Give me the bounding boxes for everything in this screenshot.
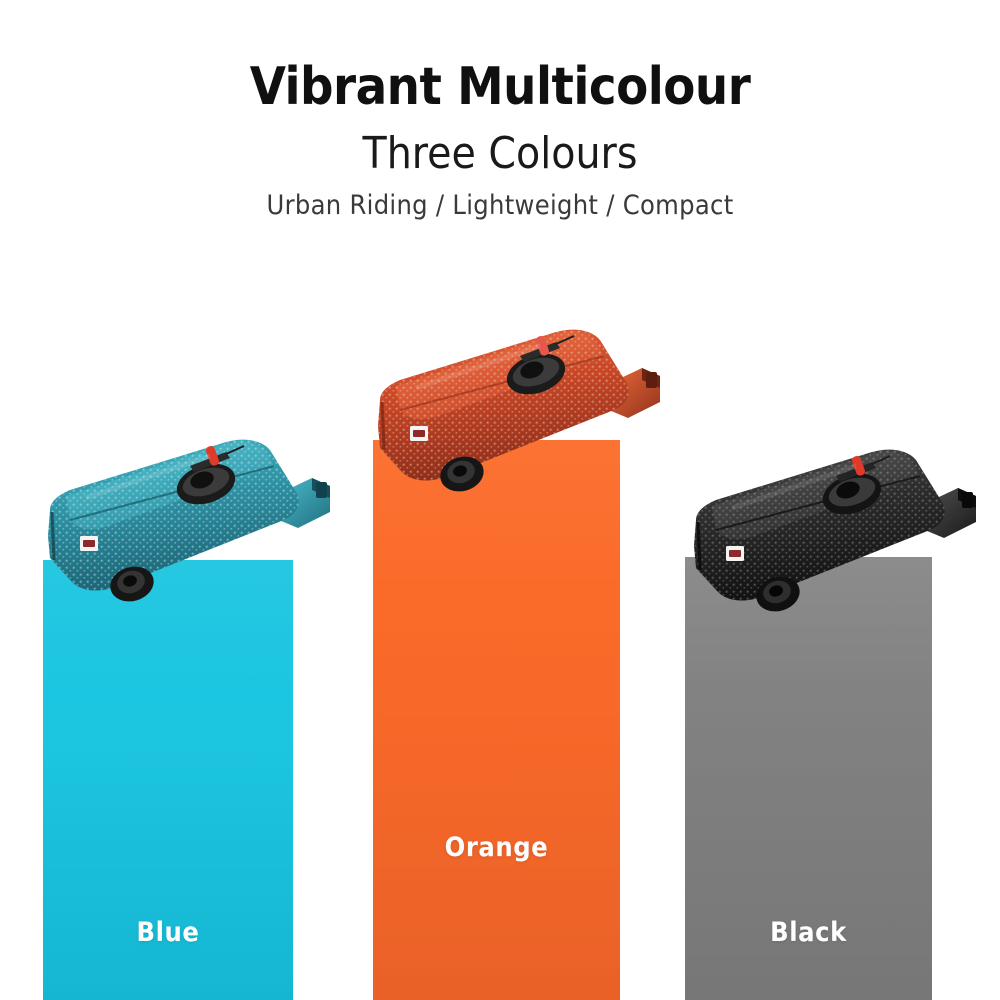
column-label-blue: Blue xyxy=(43,917,293,948)
battery-badge-blue xyxy=(80,536,98,551)
marketing-banner: Vibrant Multicolour Three Colours Urban … xyxy=(0,0,1000,1000)
product-image-blue-battery[interactable] xyxy=(30,440,350,640)
product-image-black-battery[interactable] xyxy=(676,450,996,650)
battery-badge-black xyxy=(726,546,744,561)
product-image-orange-battery[interactable] xyxy=(360,330,680,530)
page-tagline: Urban Riding / Lightweight / Compact xyxy=(0,191,1000,221)
battery-badge-orange xyxy=(410,426,428,441)
page-subtitle: Three Colours xyxy=(0,131,1000,177)
header: Vibrant Multicolour Three Colours Urban … xyxy=(0,0,1000,220)
column-label-orange: Orange xyxy=(373,832,620,863)
column-label-black: Black xyxy=(685,917,932,948)
page-title: Vibrant Multicolour xyxy=(0,60,1000,115)
